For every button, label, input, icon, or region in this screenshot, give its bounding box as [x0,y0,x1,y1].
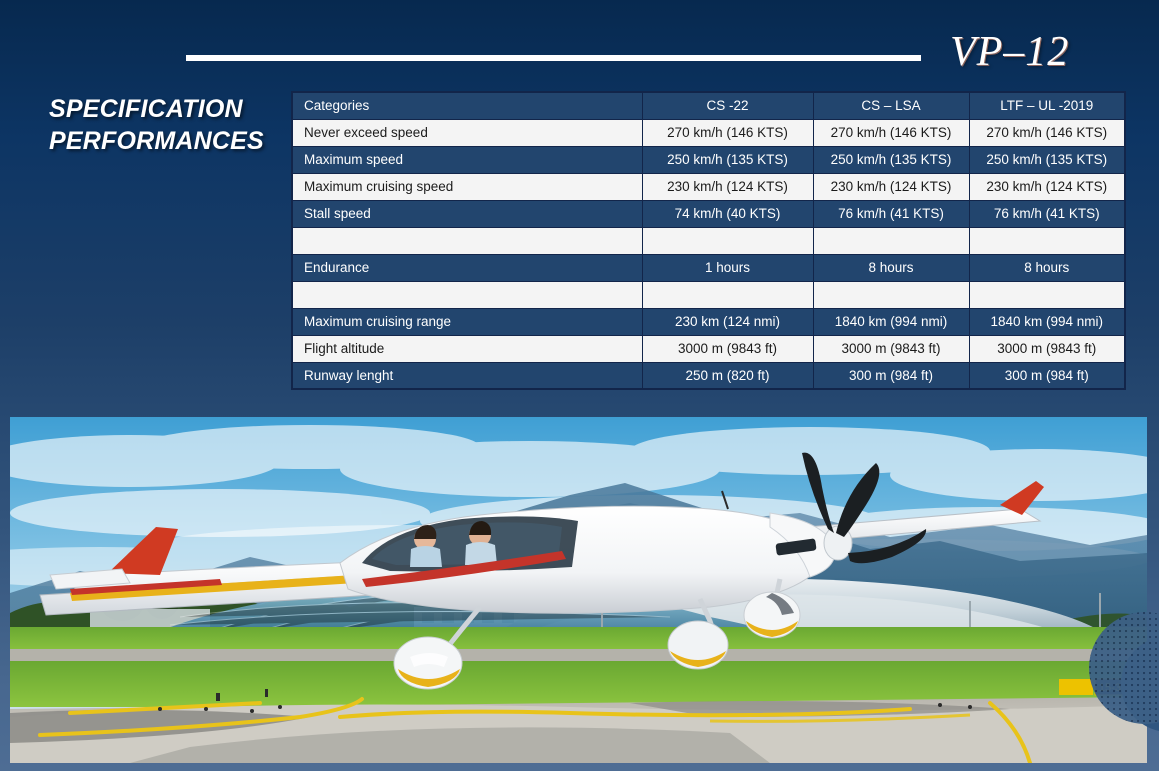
table-cell-value: 74 km/h (40 KTS) [642,200,813,227]
table-cell-value: 1840 km (994 nmi) [813,308,969,335]
table-cell-value: 270 km/h (146 KTS) [969,119,1125,146]
table-cell-value: 250 km/h (135 KTS) [642,146,813,173]
table-cell-value: 230 km/h (124 KTS) [642,173,813,200]
aircraft-photo: 15-33 [10,417,1147,763]
table-cell-value: 3000 m (9843 ft) [642,335,813,362]
table-cell-category [292,281,642,308]
table-row: Stall speed74 km/h (40 KTS)76 km/h (41 K… [292,200,1125,227]
table-row: Maximum cruising range230 km (124 nmi)18… [292,308,1125,335]
page-title-line-1: SPECIFICATION [49,93,279,125]
table-cell-value: 300 m (984 ft) [969,362,1125,389]
table-row-spacer [292,227,1125,254]
table-cell-category: Endurance [292,254,642,281]
table-cell-category: Maximum cruising range [292,308,642,335]
table-cell-value: 8 hours [969,254,1125,281]
page-title-line-2: PERFORMANCES [49,125,279,157]
column-header-ltf-ul-2019: LTF – UL -2019 [969,92,1125,119]
table-cell-value: 300 m (984 ft) [813,362,969,389]
table-cell-category: Maximum cruising speed [292,173,642,200]
table-cell-value: 3000 m (9843 ft) [969,335,1125,362]
table-cell-value: 230 km (124 nmi) [642,308,813,335]
table-cell-category [292,227,642,254]
table-header-row: Categories CS -22 CS – LSA LTF – UL -201… [292,92,1125,119]
table-cell-value: 230 km/h (124 KTS) [969,173,1125,200]
table-cell-value: 250 km/h (135 KTS) [969,146,1125,173]
table-row: Flight altitude3000 m (9843 ft)3000 m (9… [292,335,1125,362]
table-cell-value [969,227,1125,254]
table-cell-value [813,281,969,308]
table-row: Endurance1 hours8 hours8 hours [292,254,1125,281]
page-title: SPECIFICATION PERFORMANCES [49,93,279,157]
table-row: Never exceed speed270 km/h (146 KTS)270 … [292,119,1125,146]
table-cell-value: 76 km/h (41 KTS) [813,200,969,227]
table-cell-category: Runway lenght [292,362,642,389]
table-row: Runway lenght250 m (820 ft)300 m (984 ft… [292,362,1125,389]
specification-table: Categories CS -22 CS – LSA LTF – UL -201… [291,91,1126,390]
table-row-spacer [292,281,1125,308]
table-row: Maximum speed250 km/h (135 KTS)250 km/h … [292,146,1125,173]
column-header-categories: Categories [292,92,642,119]
brand-logo-vp12: VP–12 [950,28,1069,76]
table-head: Categories CS -22 CS – LSA LTF – UL -201… [292,92,1125,119]
table-cell-category: Stall speed [292,200,642,227]
table-cell-value [642,227,813,254]
table-cell-category: Flight altitude [292,335,642,362]
column-header-cs22: CS -22 [642,92,813,119]
table-cell-value [969,281,1125,308]
table-cell-value: 270 km/h (146 KTS) [813,119,969,146]
table-cell-value: 230 km/h (124 KTS) [813,173,969,200]
slide-root: VP–12 SPECIFICATION PERFORMANCES Categor… [0,0,1159,771]
table-cell-value: 1 hours [642,254,813,281]
table-cell-value: 76 km/h (41 KTS) [969,200,1125,227]
table-cell-value: 250 km/h (135 KTS) [813,146,969,173]
table-cell-category: Never exceed speed [292,119,642,146]
table-cell-value: 3000 m (9843 ft) [813,335,969,362]
table-row: Maximum cruising speed230 km/h (124 KTS)… [292,173,1125,200]
table-cell-value: 8 hours [813,254,969,281]
header-divider-rule [186,55,921,61]
table-body: Never exceed speed270 km/h (146 KTS)270 … [292,119,1125,389]
column-header-cs-lsa: CS – LSA [813,92,969,119]
table-cell-value [642,281,813,308]
table-cell-value: 1840 km (994 nmi) [969,308,1125,335]
aircraft-photo-illustration: 15-33 [10,417,1147,763]
table-cell-value: 250 m (820 ft) [642,362,813,389]
table-cell-value: 270 km/h (146 KTS) [642,119,813,146]
table-cell-value [813,227,969,254]
table-cell-category: Maximum speed [292,146,642,173]
